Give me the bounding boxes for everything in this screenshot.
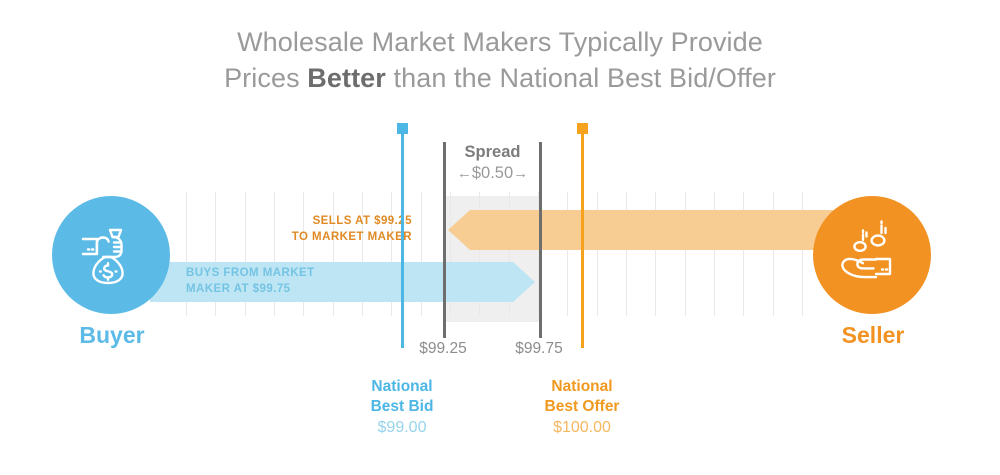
spread-value: ←$0.50→ <box>443 164 542 183</box>
buy-flow-label: BUYS FROM MARKET MAKER AT $99.75 <box>186 266 416 297</box>
spread-left-price: $99.25 <box>398 340 488 358</box>
sell-flow-arrow <box>448 210 838 250</box>
hand-catching-coins-icon <box>832 215 912 295</box>
bid-caption-price: $99.00 <box>302 418 502 438</box>
seller-label: Seller <box>813 322 933 349</box>
title-line-2-before: Prices <box>224 63 307 93</box>
bid-caption-name: National Best Bid <box>302 377 502 416</box>
title-line-2-after: than the National Best Bid/Offer <box>386 63 776 93</box>
page-title: Wholesale Market Makers Typically Provid… <box>0 24 1000 96</box>
offer-caption-price: $100.00 <box>482 418 682 438</box>
spread-right-price: $99.75 <box>494 340 584 358</box>
spread-arrow-right-icon: → <box>513 165 528 182</box>
title-line-2: Prices Better than the National Best Bid… <box>0 60 1000 96</box>
buyer-circle <box>52 196 170 314</box>
bid-marker-line <box>401 130 404 348</box>
sell-flow-label: SELLS AT $99.25 TO MARKET MAKER <box>222 214 412 245</box>
national-best-offer-caption: National Best Offer $100.00 <box>482 377 682 438</box>
seller-circle <box>813 196 931 314</box>
sell-arrow-head <box>448 210 470 250</box>
offer-marker-line <box>581 130 584 348</box>
title-line-1: Wholesale Market Makers Typically Provid… <box>0 24 1000 60</box>
hand-holding-money-bag-icon <box>72 216 150 294</box>
buy-arrow-head <box>513 262 535 302</box>
national-best-bid-caption: National Best Bid $99.00 <box>302 377 502 438</box>
buyer-actor: Buyer <box>52 196 172 349</box>
sell-arrow-body <box>470 210 838 250</box>
title-emphasis: Better <box>307 63 386 93</box>
buyer-label: Buyer <box>52 322 172 349</box>
spread-title: Spread <box>443 143 542 162</box>
infographic-canvas: Wholesale Market Makers Typically Provid… <box>0 0 1000 475</box>
seller-actor: Seller <box>813 196 933 349</box>
spread-amount: $0.50 <box>472 164 513 182</box>
spread-arrow-left-icon: ← <box>457 165 472 182</box>
offer-caption-name: National Best Offer <box>482 377 682 416</box>
